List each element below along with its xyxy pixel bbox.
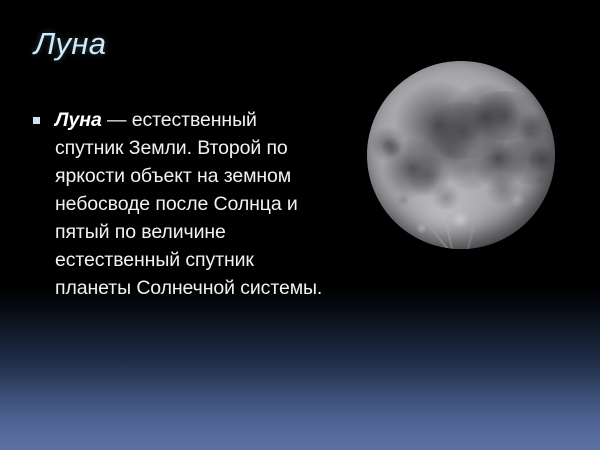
crater-mark	[536, 174, 547, 187]
moon-craters	[367, 61, 555, 249]
bullet-list: Луна — естественный спутник Земли. Второ…	[30, 106, 330, 302]
bullet-lead-term: Луна	[55, 109, 102, 131]
crater-mark	[529, 144, 555, 174]
list-item: Луна — естественный спутник Земли. Второ…	[30, 106, 330, 302]
crater-mark	[431, 185, 461, 209]
bullet-body-text: естественный спутник Земли. Второй по яр…	[55, 109, 322, 299]
slide-title: Луна	[34, 26, 106, 62]
crater-mark	[382, 136, 401, 159]
crater-mark	[510, 193, 525, 208]
crater-mark	[397, 193, 410, 206]
bullet-item-text: Луна — естественный спутник Земли. Второ…	[55, 106, 330, 302]
square-bullet-icon	[33, 117, 40, 124]
presentation-slide: Луна Луна — естественный спутник Земли. …	[0, 0, 600, 450]
moon-photograph	[367, 61, 555, 249]
crater-mark	[416, 223, 427, 234]
em-dash: —	[102, 109, 132, 131]
crater-mark	[452, 211, 469, 228]
